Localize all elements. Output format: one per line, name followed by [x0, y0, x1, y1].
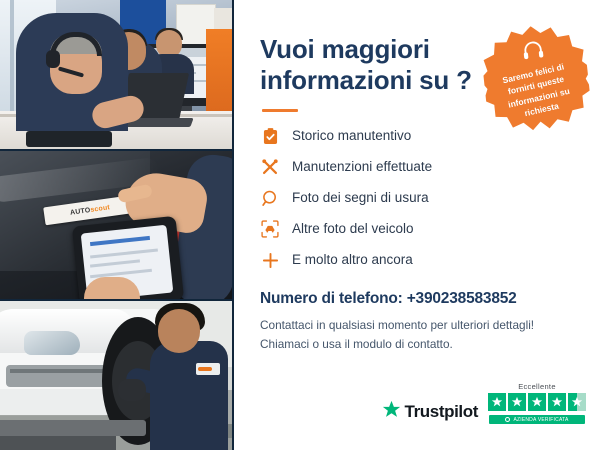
headset-icon: [521, 39, 545, 66]
trustpilot-logo: Trustpilot: [382, 400, 478, 424]
contact-subtext: Contattaci in qualsiasi momento per ulte…: [260, 316, 576, 353]
feature-list: Storico manutentivo Manutenzioni effettu…: [260, 126, 576, 270]
trustpilot-widget[interactable]: Trustpilot Eccellente: [260, 382, 586, 424]
title-underline-rule: [262, 109, 298, 112]
headline-line-1: Vuoi maggiori: [260, 34, 430, 64]
trustpilot-rating: Eccellente: [488, 382, 586, 424]
promo-banner: AUTOscout: [0, 0, 600, 450]
headset-earcup: [46, 50, 60, 68]
mechanic-body: [150, 341, 228, 450]
verified-badge-text: AZIENDA VERIFICATA: [513, 417, 568, 423]
vehicle-inspection-photo: AUTOscout: [0, 149, 232, 300]
feature-label: Manutenzioni effettuate: [292, 160, 432, 175]
feature-label: E molto altro ancora: [292, 253, 413, 268]
mechanic-head: [158, 309, 200, 353]
star-filled: [488, 393, 506, 411]
headline-line-2: informazioni su ?: [260, 65, 472, 95]
clipboard-check-icon: [260, 126, 280, 146]
plus-icon: [260, 250, 280, 270]
page-title: Vuoi maggiori informazioni su ?: [260, 34, 472, 95]
trustpilot-wordmark: Trustpilot: [405, 402, 478, 422]
car-headlight: [24, 331, 80, 355]
trustpilot-stars: [488, 393, 586, 411]
mechanic-wheel-photo: [0, 299, 232, 450]
phone-number-heading: Numero di telefono: +390238583852: [260, 290, 576, 308]
car-lift-arm: [0, 420, 146, 436]
car-grille-bar: [10, 369, 106, 373]
star-filled: [508, 393, 526, 411]
star-filled: [528, 393, 546, 411]
list-item: Altre foto del veicolo: [260, 219, 576, 239]
contact-subtext-line-1: Contattaci in qualsiasi momento per ulte…: [260, 316, 576, 334]
magnifier-icon: [260, 188, 280, 208]
verified-check-icon: [505, 417, 510, 422]
request-info-badge: Saremo felici di fornirti queste informa…: [479, 21, 593, 135]
verified-business-badge: AZIENDA VERIFICATA: [489, 415, 585, 424]
star-filled: [548, 393, 566, 411]
mechanic-glove: [118, 379, 146, 401]
feature-label: Storico manutentivo: [292, 129, 411, 144]
list-item: Foto dei segni di usura: [260, 188, 576, 208]
list-item: E molto altro ancora: [260, 250, 576, 270]
content-panel: Vuoi maggiori informazioni su ? Saremo f…: [234, 0, 600, 450]
tools-cross-icon: [260, 157, 280, 177]
feature-label: Altre foto del veicolo: [292, 222, 414, 237]
photo-column: AUTOscout: [0, 0, 234, 450]
holding-hand: [84, 277, 140, 299]
trustpilot-rating-label: Eccellente: [518, 382, 556, 391]
car-lift-base: [0, 436, 116, 450]
contact-subtext-line-2: Chiamaci o usa il modulo di contatto.: [260, 335, 576, 353]
feature-label: Foto dei segni di usura: [292, 191, 429, 206]
trustpilot-star-icon: [382, 400, 401, 424]
desk-tray: [26, 131, 112, 147]
list-item: Manutenzioni effettuate: [260, 157, 576, 177]
uniform-logo: [196, 363, 220, 375]
car-scan-icon: [260, 219, 280, 239]
call-center-photo: [0, 0, 232, 149]
star-partial: [568, 393, 586, 411]
